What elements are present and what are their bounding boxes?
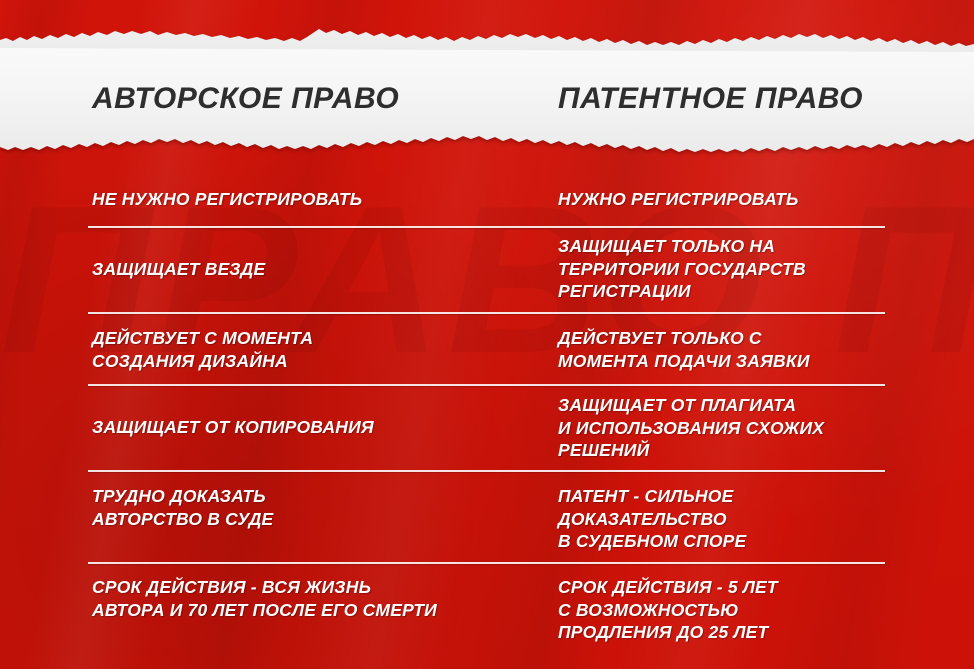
cell-copyright-6: СРОК ДЕЙСТВИЯ - ВСЯ ЖИЗНЬ АВТОРА И 70 ЛЕ…	[92, 576, 522, 621]
banner-titles: АВТОРСКОЕ ПРАВО ПАТЕНТНОЕ ПРАВО	[0, 0, 974, 172]
cell-patent-1: НУЖНО РЕГИСТРИРОВАТЬ	[558, 188, 958, 211]
row-divider	[88, 312, 885, 314]
comparison-table: НЕ НУЖНО РЕГИСТРИРОВАТЬ НУЖНО РЕГИСТРИРО…	[0, 172, 974, 669]
row-divider	[88, 470, 885, 472]
cell-patent-6: СРОК ДЕЙСТВИЯ - 5 ЛЕТ С ВОЗМОЖНОСТЬЮ ПРО…	[558, 576, 958, 644]
cell-copyright-4: ЗАЩИЩАЕТ ОТ КОПИРОВАНИЯ	[92, 416, 522, 439]
cell-copyright-2: ЗАЩИЩАЕТ ВЕЗДЕ	[92, 258, 522, 281]
cell-patent-3: ДЕЙСТВУЕТ ТОЛЬКО С МОМЕНТА ПОДАЧИ ЗАЯВКИ	[558, 327, 958, 372]
cell-copyright-1: НЕ НУЖНО РЕГИСТРИРОВАТЬ	[92, 188, 522, 211]
cell-patent-5: ПАТЕНТ - СИЛЬНОЕ ДОКАЗАТЕЛЬСТВО В СУДЕБН…	[558, 485, 958, 553]
column-header-patent: ПАТЕНТНОЕ ПРАВО	[558, 82, 863, 116]
row-divider	[88, 562, 885, 564]
cell-patent-2: ЗАЩИЩАЕТ ТОЛЬКО НА ТЕРРИТОРИИ ГОСУДАРСТВ…	[558, 235, 958, 303]
column-header-copyright: АВТОРСКОЕ ПРАВО	[92, 82, 399, 116]
row-divider	[88, 384, 885, 386]
cell-copyright-5: ТРУДНО ДОКАЗАТЬ АВТОРСТВО В СУДЕ	[92, 485, 522, 530]
row-divider	[88, 226, 885, 228]
cell-copyright-3: ДЕЙСТВУЕТ С МОМЕНТА СОЗДАНИЯ ДИЗАЙНА	[92, 327, 522, 372]
cell-patent-4: ЗАЩИЩАЕТ ОТ ПЛАГИАТА И ИСПОЛЬЗОВАНИЯ СХО…	[558, 394, 958, 462]
